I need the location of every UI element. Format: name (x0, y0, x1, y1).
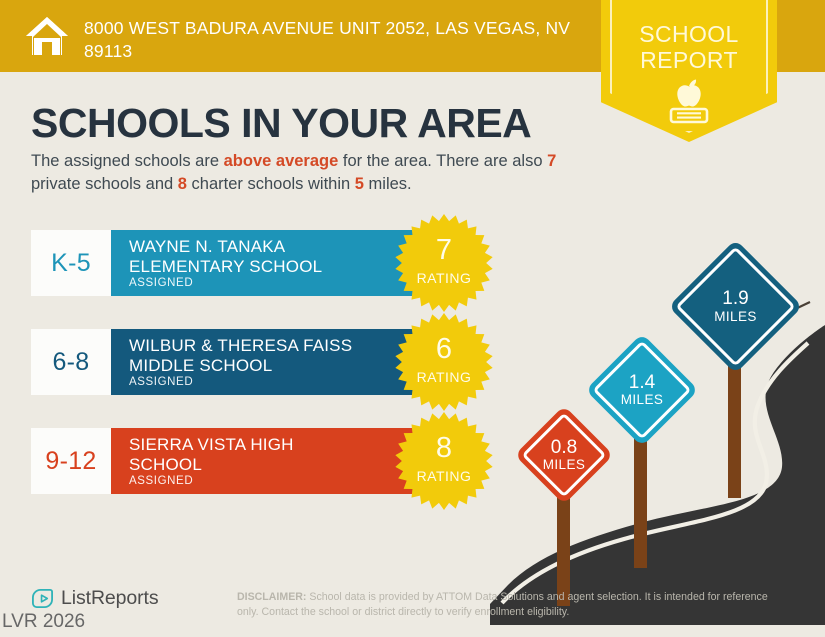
school-card[interactable]: 6-8 WILBUR & THERESA FAISS MIDDLE SCHOOL… (31, 329, 446, 395)
badge-title-line2: REPORT (601, 48, 777, 74)
report-code: LVR 2026 (2, 611, 85, 633)
apple-and-book-icon (657, 78, 721, 128)
school-rating-value: 7 (395, 236, 493, 265)
summary-highlight-rating: above average (224, 152, 339, 170)
school-assigned-label: ASSIGNED (129, 376, 193, 388)
summary-highlight-private-count: 7 (547, 152, 556, 170)
summary-part-2: for the area. There are also (338, 152, 547, 170)
school-name: WAYNE N. TANAKA ELEMENTARY SCHOOL (129, 237, 369, 277)
badge-title: SCHOOL REPORT (601, 22, 777, 74)
school-card-list: K-5 WAYNE N. TANAKA ELEMENTARY SCHOOL AS… (31, 230, 446, 527)
sign-face (515, 406, 614, 505)
distance-sign: 0.8 MILES (518, 415, 613, 605)
property-address: 8000 WEST BADURA AVENUE UNIT 2052, LAS V… (84, 17, 574, 63)
summary-part-5: miles. (364, 175, 412, 193)
school-rating-value: 6 (395, 335, 493, 364)
school-report-infographic: 8000 WEST BADURA AVENUE UNIT 2052, LAS V… (0, 0, 825, 637)
summary-highlight-radius: 5 (355, 175, 364, 193)
listreports-logo-icon (31, 587, 54, 610)
school-card[interactable]: 9-12 SIERRA VISTA HIGH SCHOOL ASSIGNED 8… (31, 428, 446, 494)
school-assigned-label: ASSIGNED (129, 277, 193, 289)
school-report-badge: SCHOOL REPORT (601, 0, 777, 142)
school-rating-badge: 6 RATING (395, 313, 493, 411)
school-rating-badge: 8 RATING (395, 412, 493, 510)
school-name: SIERRA VISTA HIGH SCHOOL (129, 435, 369, 475)
school-rating-value: 8 (395, 434, 493, 463)
school-assigned-label: ASSIGNED (129, 475, 193, 487)
summary-highlight-charter-count: 8 (178, 175, 187, 193)
school-grade-range: 9-12 (31, 428, 111, 494)
badge-title-line1: SCHOOL (601, 22, 777, 48)
listreports-brand[interactable]: ListReports (31, 587, 159, 610)
page-title: SCHOOLS IN YOUR AREA (31, 100, 531, 147)
summary-part-1: The assigned schools are (31, 152, 224, 170)
school-rating-label: RATING (395, 369, 493, 385)
distance-road-illustration: 1.9 MILES 1.4 MILES 0.8 MILES (490, 255, 825, 625)
summary-text: The assigned schools are above average f… (31, 150, 576, 197)
school-rating-badge: 7 RATING (395, 214, 493, 312)
school-grade-range: K-5 (31, 230, 111, 296)
school-rating-label: RATING (395, 270, 493, 286)
sign-post (634, 423, 647, 568)
summary-part-4: charter schools within (187, 175, 355, 193)
school-card[interactable]: K-5 WAYNE N. TANAKA ELEMENTARY SCHOOL AS… (31, 230, 446, 296)
brand-name: ListReports (61, 587, 159, 610)
disclaimer-label: DISCLAIMER: (237, 591, 306, 603)
summary-part-3: private schools and (31, 175, 178, 193)
disclaimer-body: School data is provided by ATTOM Data So… (237, 591, 768, 618)
disclaimer-text: DISCLAIMER: School data is provided by A… (237, 590, 790, 621)
house-icon (24, 14, 70, 58)
school-rating-label: RATING (395, 468, 493, 484)
school-grade-range: 6-8 (31, 329, 111, 395)
school-name: WILBUR & THERESA FAISS MIDDLE SCHOOL (129, 336, 369, 376)
